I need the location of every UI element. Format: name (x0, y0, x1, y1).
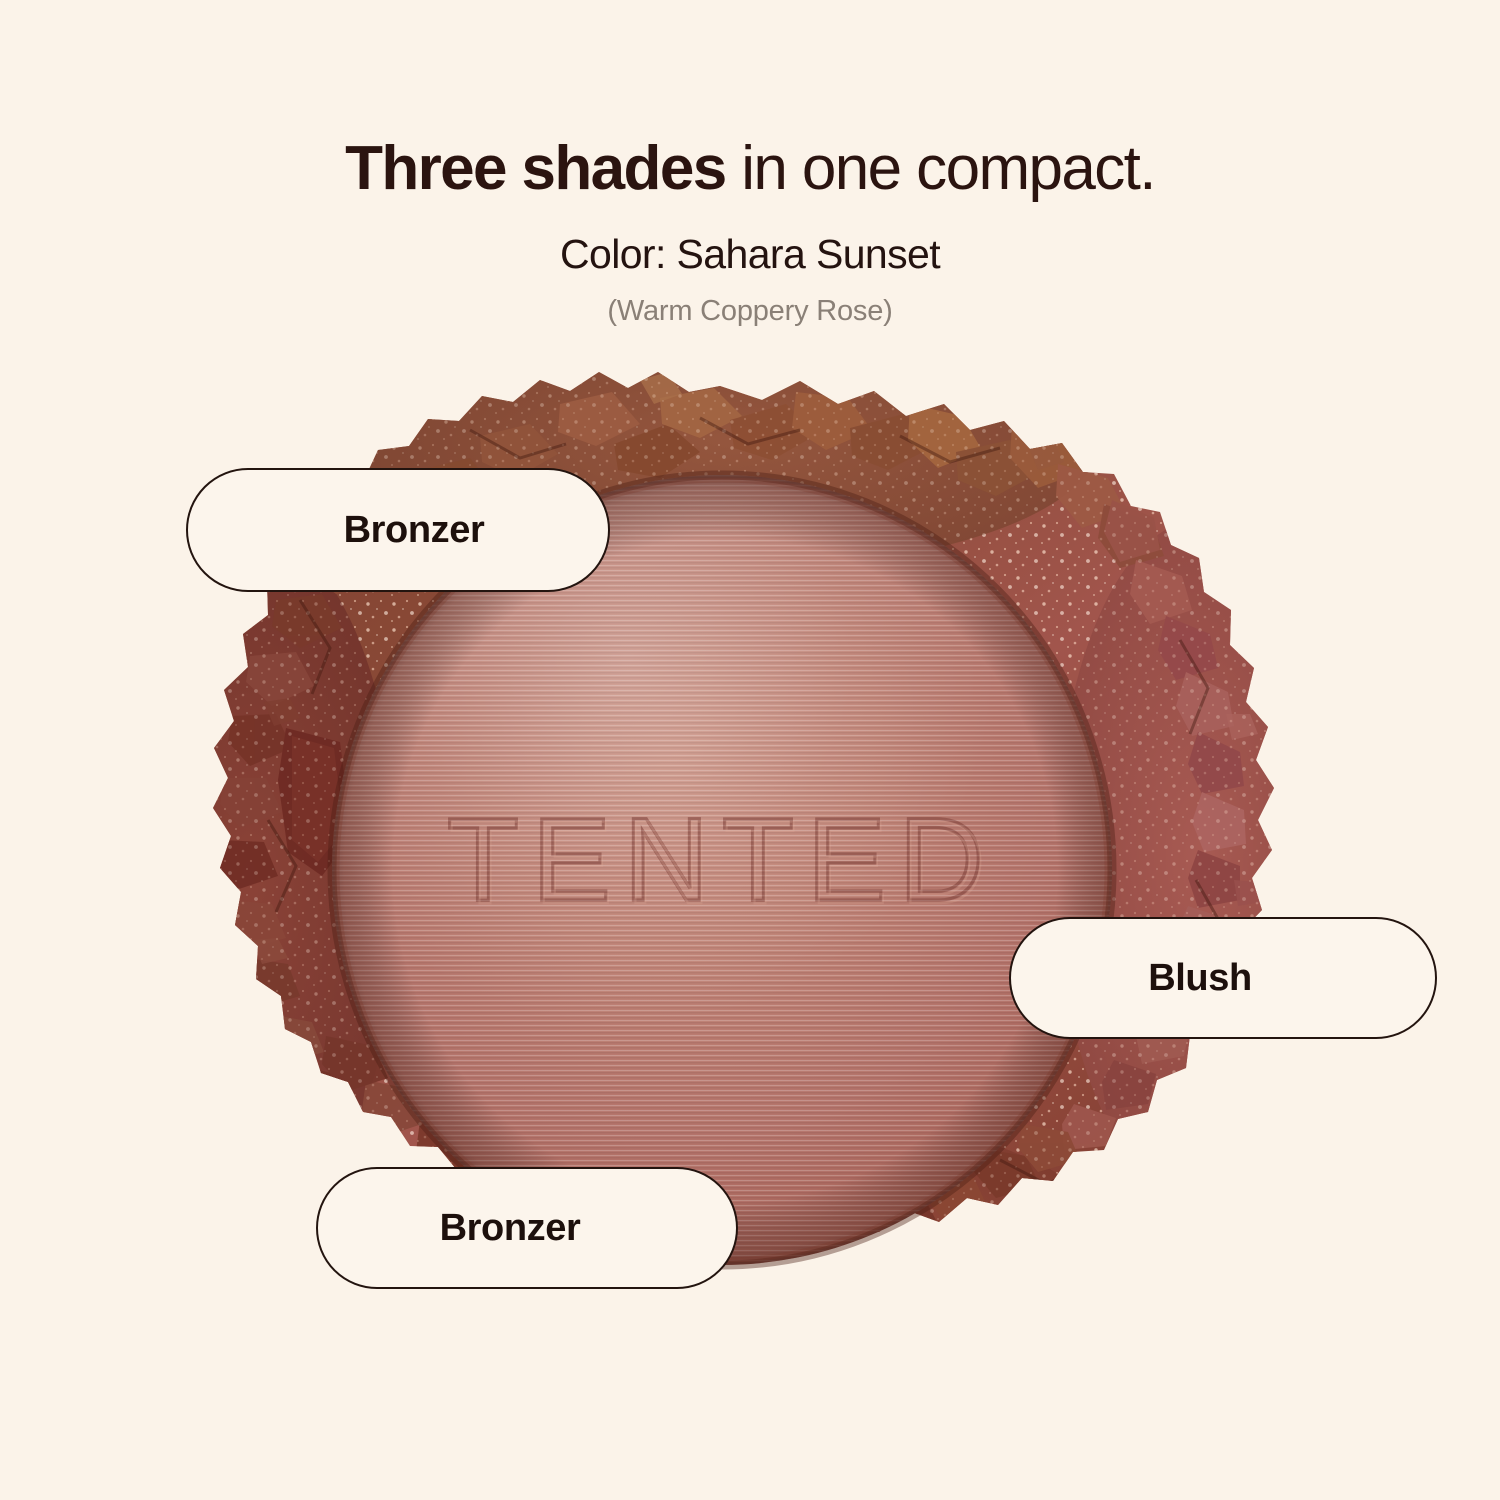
headline-remainder: in one compact. (726, 134, 1155, 203)
color-name-label: Color: Sahara Sunset (0, 200, 1500, 275)
headline-emphasis: Three shades (345, 134, 726, 203)
callout-label: Blush (1011, 957, 1435, 1000)
callout-label: Bronzer (188, 509, 608, 552)
color-descriptor-label: (Warm Coppery Rose) (0, 275, 1500, 326)
header-text-block: Three shades in one compact. Color: Saha… (0, 0, 1500, 326)
callout-label: Bronzer (318, 1207, 736, 1250)
product-marketing-image: TENTED TENTED Three shades in one compac… (0, 0, 1500, 1500)
page-title: Three shades in one compact. (0, 0, 1500, 200)
callout-bronzer-bottom[interactable]: Bronzer (316, 1167, 738, 1289)
callout-bronzer-top[interactable]: Bronzer (186, 468, 610, 592)
callout-blush[interactable]: Blush (1009, 917, 1437, 1039)
